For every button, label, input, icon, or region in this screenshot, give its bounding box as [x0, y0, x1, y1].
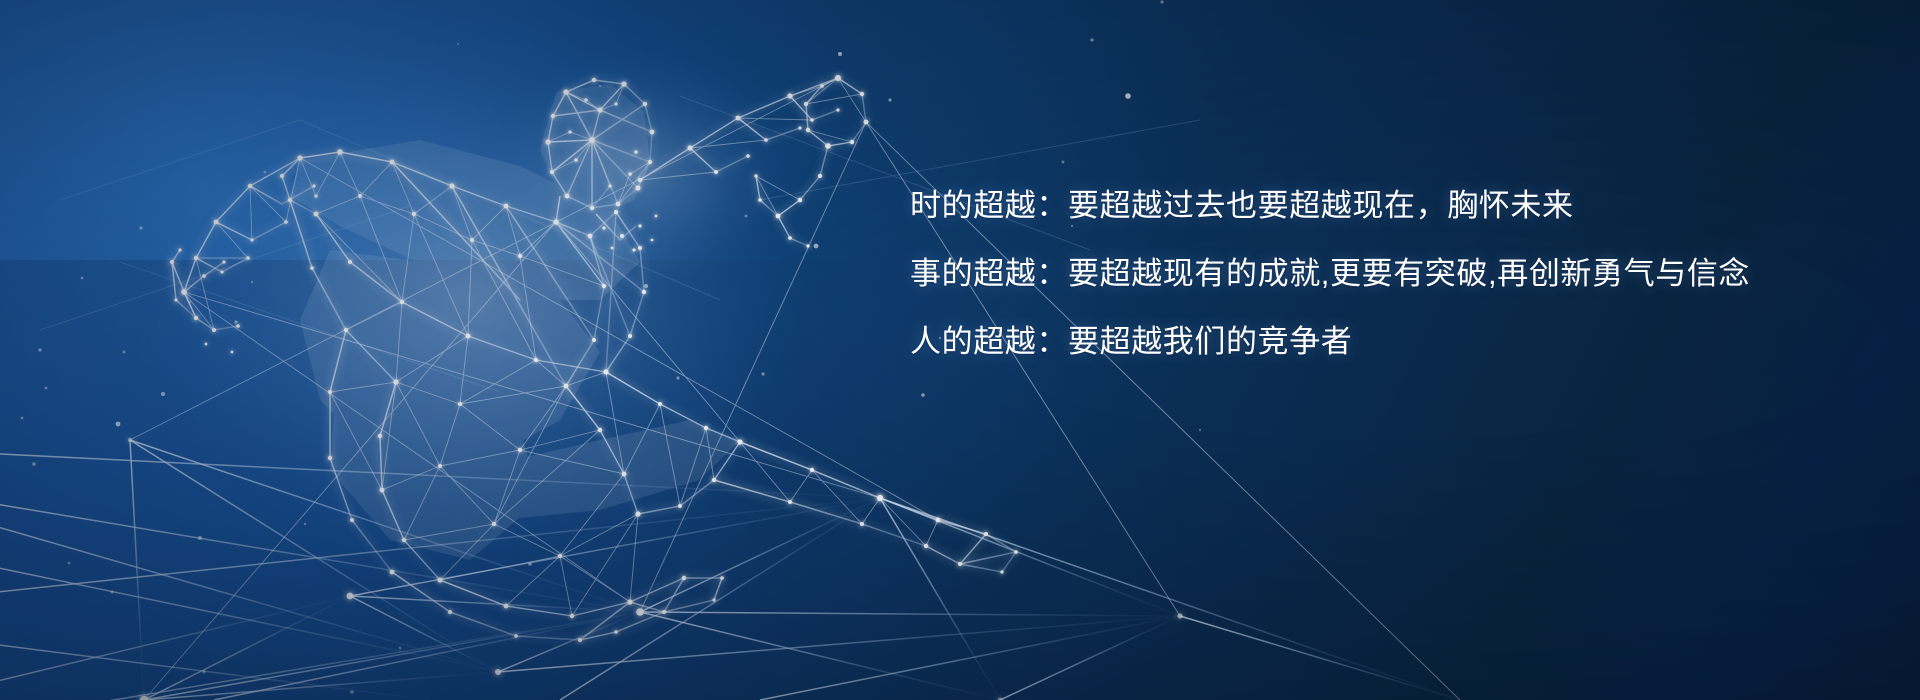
slogan-line-matter: 事的超越：要超越现有的成就,更要有突破,再创新勇气与信念	[910, 258, 1810, 289]
slogan-line-people: 人的超越：要超越我们的竞争者	[910, 326, 1810, 357]
hero-banner: 时的超越：要超越过去也要超越现在，胸怀未来 事的超越：要超越现有的成就,更要有突…	[0, 0, 1920, 700]
slogan-line-time: 时的超越：要超越过去也要超越现在，胸怀未来	[910, 190, 1810, 221]
slogan-text-block: 时的超越：要超越过去也要超越现在，胸怀未来 事的超越：要超越现有的成就,更要有突…	[910, 190, 1810, 357]
